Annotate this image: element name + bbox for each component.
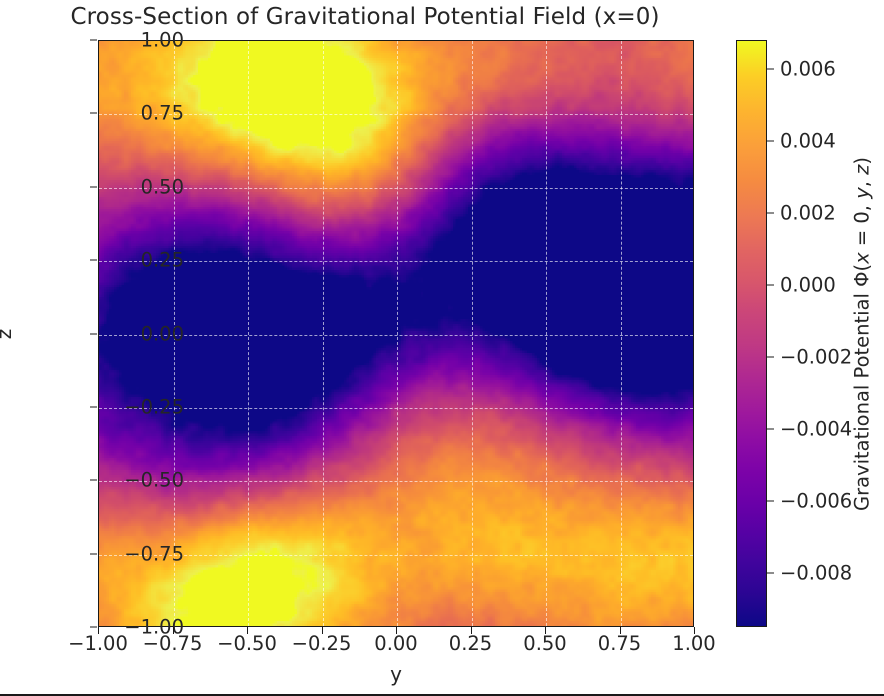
x-axis-label: y [390, 662, 402, 686]
y-tick-label: −0.75 [64, 542, 184, 565]
x-tick-mark [247, 627, 248, 634]
colorbar-tick-mark [767, 428, 774, 429]
x-tick-mark [545, 627, 546, 634]
x-tick-mark [396, 627, 397, 634]
y-axis-label: z [0, 329, 16, 340]
x-tick-label: 0.00 [374, 632, 417, 655]
colorbar-tick-mark [767, 212, 774, 213]
colorbar-tick-mark [767, 284, 774, 285]
colorbar-tick-label: 0.002 [767, 201, 836, 224]
x-tick-label: 0.25 [449, 632, 492, 655]
y-tick-label: −0.50 [64, 469, 184, 492]
y-tick-label: 0.75 [64, 102, 184, 125]
x-tick-label: −1.00 [68, 632, 128, 655]
y-tick-mark [90, 333, 97, 334]
x-tick-mark [694, 627, 695, 634]
y-tick-mark [90, 260, 97, 261]
colorbar-tick-mark [767, 500, 774, 501]
x-tick-label: 0.50 [523, 632, 566, 655]
colorbar-tick-label: −0.008 [767, 561, 852, 584]
chart-title: Cross-Section of Gravitational Potential… [0, 4, 730, 30]
colorbar-tick-mark [767, 68, 774, 69]
x-tick-mark [620, 627, 621, 634]
x-tick-label: −0.50 [217, 632, 277, 655]
y-tick-label: 0.50 [64, 175, 184, 198]
y-tick-label: 0.00 [64, 322, 184, 345]
colorbar-tick-label: −0.004 [767, 417, 852, 440]
y-tick-label: −0.25 [64, 395, 184, 418]
y-tick-mark [90, 40, 97, 41]
x-tick-label: −0.25 [292, 632, 352, 655]
y-tick-label: 0.25 [64, 249, 184, 272]
colorbar-tick-label: −0.006 [767, 489, 852, 512]
x-tick-mark [322, 627, 323, 634]
colorbar-tick-label: 0.004 [767, 129, 836, 152]
x-tick-mark [98, 627, 99, 634]
x-tick-label: −0.75 [143, 632, 203, 655]
y-tick-label: 1.00 [64, 29, 184, 52]
y-tick-mark [90, 553, 97, 554]
x-tick-mark [173, 627, 174, 634]
heatmap-axes [98, 40, 694, 627]
colorbar-tick-label: 0.006 [767, 57, 836, 80]
matplotlib-figure: Cross-Section of Gravitational Potential… [0, 0, 884, 696]
colorbar-tick-label: 0.000 [767, 273, 836, 296]
x-tick-label: 0.75 [598, 632, 641, 655]
heatmap-image [99, 41, 693, 626]
colorbar-tick-mark [767, 572, 774, 573]
colorbar-tick-label: −0.002 [767, 345, 852, 368]
colorbar [736, 40, 767, 627]
y-tick-mark [90, 186, 97, 187]
y-tick-mark [90, 480, 97, 481]
y-tick-mark [90, 113, 97, 114]
colorbar-tick-mark [767, 356, 774, 357]
y-tick-mark [90, 406, 97, 407]
colorbar-label: Gravitational Potential Φ(x = 0, y, z) [851, 157, 874, 511]
y-tick-mark [90, 627, 97, 628]
x-tick-mark [471, 627, 472, 634]
colorbar-tick-mark [767, 140, 774, 141]
x-tick-label: 1.00 [672, 632, 715, 655]
